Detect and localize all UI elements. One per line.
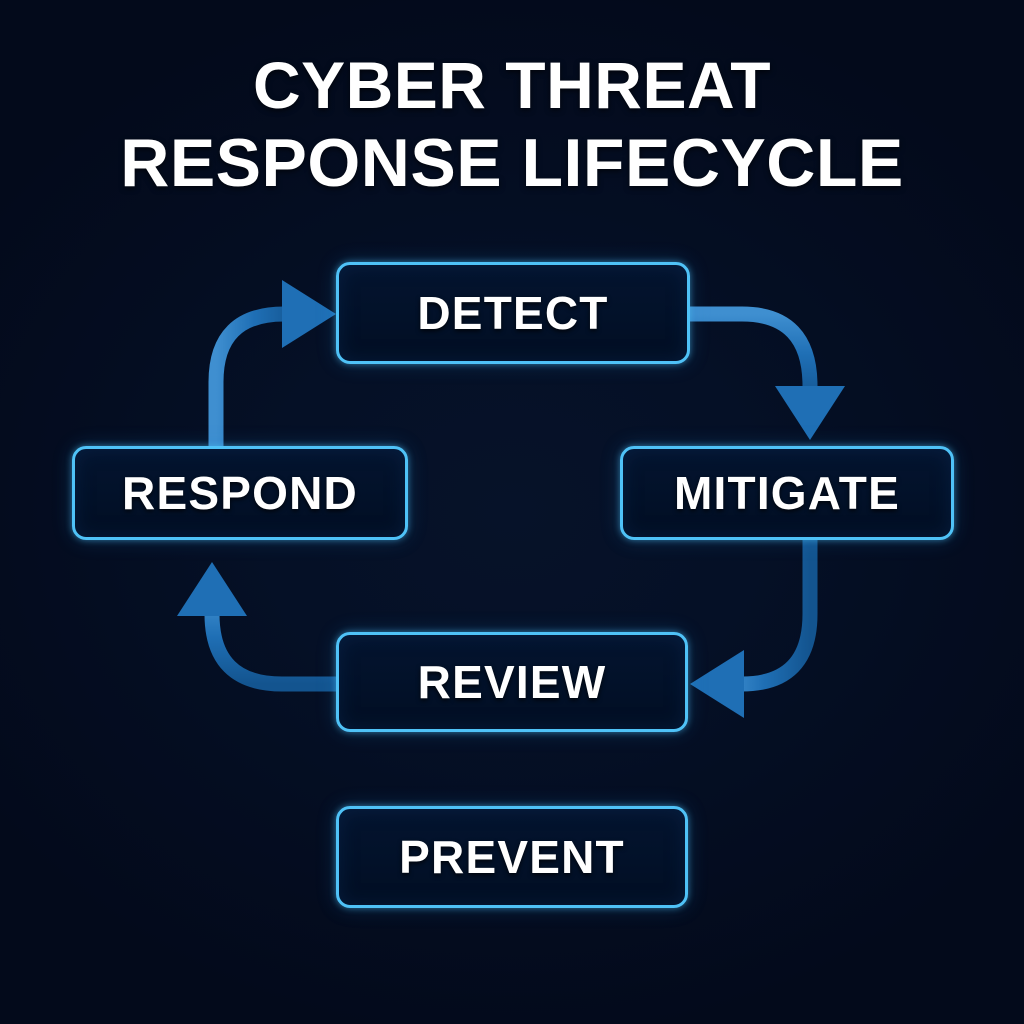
- node-review[interactable]: REVIEW: [336, 632, 688, 732]
- node-prevent-label: PREVENT: [399, 834, 625, 880]
- node-detect[interactable]: DETECT: [336, 262, 690, 364]
- node-detect-label: DETECT: [417, 290, 608, 336]
- arrow-mitigate-to-review: [690, 540, 810, 718]
- node-review-label: REVIEW: [418, 659, 607, 705]
- node-respond[interactable]: RESPOND: [72, 446, 408, 540]
- arrow-respond-to-detect: [216, 280, 336, 446]
- diagram-canvas: CYBER THREAT RESPONSE LIFECYCLE: [0, 0, 1024, 1024]
- arrow-detect-to-mitigate: [690, 314, 845, 440]
- node-respond-label: RESPOND: [122, 470, 358, 516]
- node-mitigate-label: MITIGATE: [674, 470, 900, 516]
- node-mitigate[interactable]: MITIGATE: [620, 446, 954, 540]
- node-prevent[interactable]: PREVENT: [336, 806, 688, 908]
- arrow-review-to-respond: [177, 562, 336, 684]
